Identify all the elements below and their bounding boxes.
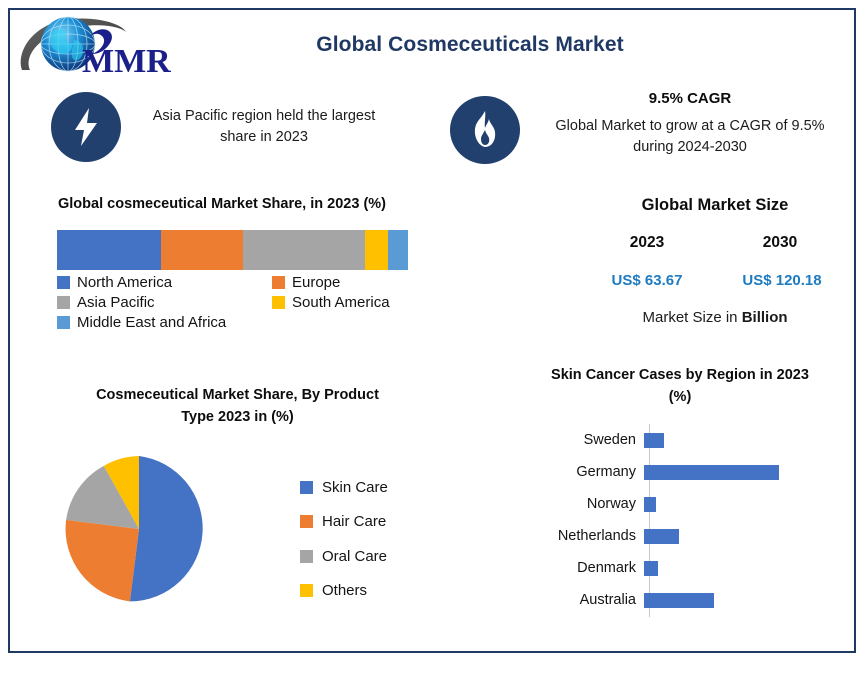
pie-slice-hair-care (66, 520, 139, 602)
legend-item-europe: Europe (272, 274, 340, 291)
legend-item-north-america: North America (57, 274, 272, 291)
stacked-segment-south-america (365, 230, 388, 270)
bar-label: Germany (520, 464, 644, 480)
legend-item-south-america: South America (272, 294, 390, 311)
market-size-unit-prefix: Market Size in (642, 309, 741, 326)
legend-label: Europe (292, 274, 340, 291)
bar-value (644, 529, 679, 544)
pie-legend-item-skin-care: Skin Care (300, 470, 388, 505)
market-size-value-2023: US$ 63.67 (587, 272, 707, 289)
page-title: Global Cosmeceuticals Market (250, 33, 690, 57)
region-share-title: Global cosmeceutical Market Share, in 20… (58, 196, 386, 212)
legend-swatch-icon (57, 316, 70, 329)
bar-label: Norway (520, 496, 644, 512)
legend-swatch-icon (57, 276, 70, 289)
infographic-canvas: MMR Global Cosmeceuticals Market Asia Pa… (0, 0, 864, 673)
legend-swatch-icon (300, 481, 313, 494)
market-size-unit-note: Market Size in Billion (580, 309, 850, 326)
skin-cancer-bar-chart: Sweden Germany Norway Netherlands Denmar… (520, 424, 840, 617)
legend-swatch-icon (300, 584, 313, 597)
bar-label: Australia (520, 592, 644, 608)
legend-label: South America (292, 294, 390, 311)
bar-value (644, 465, 779, 480)
stacked-segment-north-america (57, 230, 161, 270)
bar-row-denmark: Denmark (520, 552, 840, 584)
product-type-pie-legend: Skin Care Hair Care Oral Care Others (300, 470, 388, 608)
product-type-pie-title: Cosmeceutical Market Share, By Product T… (60, 384, 415, 428)
cagr-heading: 9.5% CAGR (540, 90, 840, 107)
stacked-segment-middle-east-africa (388, 230, 408, 270)
bar-value (644, 433, 664, 448)
bar-row-netherlands: Netherlands (520, 520, 840, 552)
legend-row: Middle East and Africa (57, 314, 477, 331)
legend-row: Asia Pacific South America (57, 294, 477, 311)
legend-label: Others (322, 582, 367, 599)
bar-row-germany: Germany (520, 456, 840, 488)
lightning-bolt-icon (51, 92, 121, 162)
bar-value (644, 561, 658, 576)
bar-row-australia: Australia (520, 584, 840, 616)
legend-label: Middle East and Africa (77, 314, 226, 331)
pie-title-line-2: Type 2023 in (%) (60, 406, 415, 428)
market-size-year-2030: 2030 (725, 234, 835, 252)
pie-legend-item-others: Others (300, 574, 388, 609)
market-size-value-2030: US$ 120.18 (722, 272, 842, 289)
legend-swatch-icon (300, 550, 313, 563)
cagr-block: 9.5% CAGR Global Market to grow at a CAG… (540, 90, 840, 158)
logo-text: MMR (82, 43, 171, 80)
bar-row-sweden: Sweden (520, 424, 840, 456)
region-share-legend: North America Europe Asia Pacific South … (57, 274, 477, 334)
pie-slice-skin-care (130, 456, 203, 601)
stacked-segment-asia-pacific (243, 230, 365, 270)
bar-label: Sweden (520, 432, 644, 448)
market-size-unit-value: Billion (742, 309, 788, 326)
legend-swatch-icon (57, 296, 70, 309)
pie-legend-item-oral-care: Oral Care (300, 539, 388, 574)
market-size-year-2023: 2023 (592, 234, 702, 252)
legend-swatch-icon (300, 515, 313, 528)
cagr-text: Global Market to grow at a CAGR of 9.5% … (540, 116, 840, 158)
legend-swatch-icon (272, 296, 285, 309)
legend-item-asia-pacific: Asia Pacific (57, 294, 272, 311)
mmr-globe-logo: MMR (16, 10, 196, 86)
bar-value (644, 593, 714, 608)
legend-label: Skin Care (322, 479, 388, 496)
bar-value (644, 497, 656, 512)
pie-title-line-1: Cosmeceutical Market Share, By Product (60, 384, 415, 406)
legend-swatch-icon (272, 276, 285, 289)
product-type-pie-chart (65, 455, 213, 603)
legend-item-middle-east-africa: Middle East and Africa (57, 314, 272, 331)
legend-row: North America Europe (57, 274, 477, 291)
bar-row-norway: Norway (520, 488, 840, 520)
legend-label: Oral Care (322, 548, 387, 565)
pie-legend-item-hair-care: Hair Care (300, 505, 388, 540)
highlight-left-text: Asia Pacific region held the largest sha… (134, 106, 394, 148)
market-size-title: Global Market Size (580, 196, 850, 215)
legend-label: Hair Care (322, 513, 386, 530)
skin-cancer-chart-title: Skin Cancer Cases by Region in 2023 (%) (520, 364, 840, 408)
region-share-stacked-bar (57, 230, 408, 270)
flame-icon (450, 96, 520, 164)
bar-label: Netherlands (520, 528, 644, 544)
bar-label: Denmark (520, 560, 644, 576)
stacked-segment-europe (161, 230, 243, 270)
hbar-title-line-2: (%) (520, 386, 840, 408)
hbar-title-line-1: Skin Cancer Cases by Region in 2023 (520, 364, 840, 386)
legend-label: Asia Pacific (77, 294, 155, 311)
legend-label: North America (77, 274, 172, 291)
